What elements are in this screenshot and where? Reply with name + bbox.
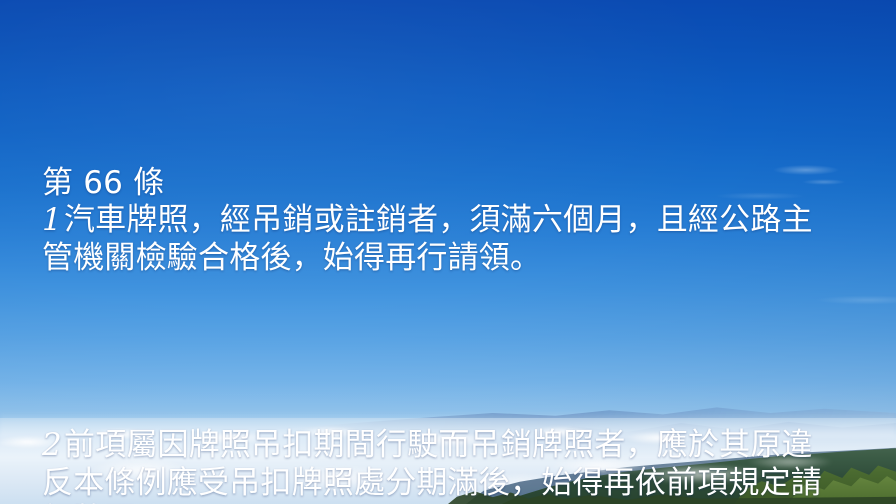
clause-text-1: 汽車牌照，經吊銷或註銷者，須滿六個月，且經公路主管機關檢驗合格後，始得再行請領。 (42, 202, 813, 276)
clause-number-2: 2 (42, 427, 64, 463)
clause-number-1: 1 (42, 202, 64, 238)
clause-text-2: 前項屬因牌照吊扣期間行駛而吊銷牌照者，應於其原違反本條例應受吊扣牌照處分期滿後，… (42, 427, 822, 504)
clause-paragraph-2: 2前項屬因牌照吊扣期間行駛而吊銷牌照者，應於其原違反本條例應受吊扣牌照處分期滿後… (42, 427, 832, 504)
presentation-slide: 第 66 條 1汽車牌照，經吊銷或註銷者，須滿六個月，且經公路主管機關檢驗合格後… (0, 0, 896, 504)
article-heading-paragraph: 第 66 條 1汽車牌照，經吊銷或註銷者，須滿六個月，且經公路主管機關檢驗合格後… (42, 165, 832, 278)
slide-text-block: 第 66 條 1汽車牌照，經吊銷或註銷者，須滿六個月，且經公路主管機關檢驗合格後… (42, 52, 832, 504)
article-title: 第 66 條 (42, 165, 832, 203)
